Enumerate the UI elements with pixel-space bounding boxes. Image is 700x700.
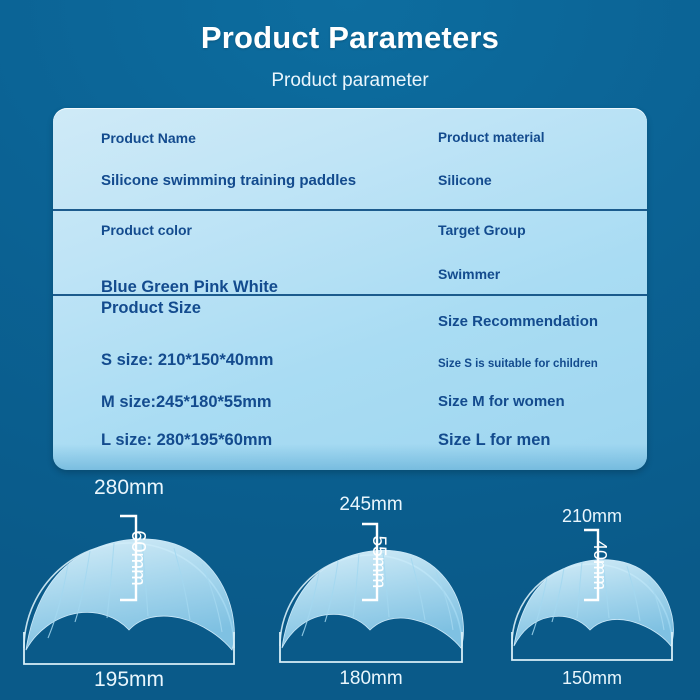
panel-height-label-small: 40mm bbox=[590, 540, 610, 590]
page-title: Product Parameters bbox=[0, 20, 700, 56]
param-value-size-m: M size:245*180*55mm bbox=[101, 393, 272, 412]
table-divider-1 bbox=[53, 209, 647, 211]
param-value-size-s: S size: 210*150*40mm bbox=[101, 351, 273, 370]
param-label-size-recommendation: Size Recommendation bbox=[438, 313, 598, 330]
panel-height-label-medium: 55mm bbox=[368, 536, 389, 589]
param-label-target-group: Target Group bbox=[438, 222, 526, 238]
param-label-product-material: Product material bbox=[438, 130, 545, 145]
paddle-illustration-medium: 55mm bbox=[258, 472, 484, 700]
panel-depth-label-large: 195mm bbox=[8, 668, 250, 692]
param-label-product-name: Product Name bbox=[101, 130, 196, 146]
size-panel-small: 210mm bbox=[492, 472, 692, 700]
panel-depth-label-small: 150mm bbox=[492, 668, 692, 689]
size-panel-medium: 245mm bbox=[258, 472, 484, 700]
parameters-card: Product Name Silicone swimming training … bbox=[53, 108, 647, 470]
page-subtitle: Product parameter bbox=[0, 70, 700, 92]
param-value-product-material: Silicone bbox=[438, 172, 492, 188]
param-label-product-color: Product color bbox=[101, 222, 192, 238]
paddle-illustration-large: 60mm bbox=[8, 472, 250, 700]
paddle-illustration-small: 40mm bbox=[492, 472, 692, 700]
param-value-recommendation-s: Size S is suitable for children bbox=[438, 358, 598, 370]
param-label-product-size: Product Size bbox=[101, 299, 201, 318]
param-value-target-group: Swimmer bbox=[438, 266, 500, 282]
param-value-recommendation-l: Size L for men bbox=[438, 431, 550, 450]
table-divider-2 bbox=[53, 294, 647, 296]
panel-height-label-large: 60mm bbox=[127, 530, 149, 586]
panel-depth-label-medium: 180mm bbox=[258, 668, 484, 690]
size-panel-large: 280mm bbox=[8, 472, 250, 700]
param-value-size-l: L size: 280*195*60mm bbox=[101, 431, 272, 450]
param-value-recommendation-m: Size M for women bbox=[438, 393, 565, 410]
size-panels: 280mm bbox=[0, 472, 700, 700]
infographic-page: Product Parameters Product parameter Pro… bbox=[0, 0, 700, 700]
param-value-product-name: Silicone swimming training paddles bbox=[101, 172, 356, 189]
